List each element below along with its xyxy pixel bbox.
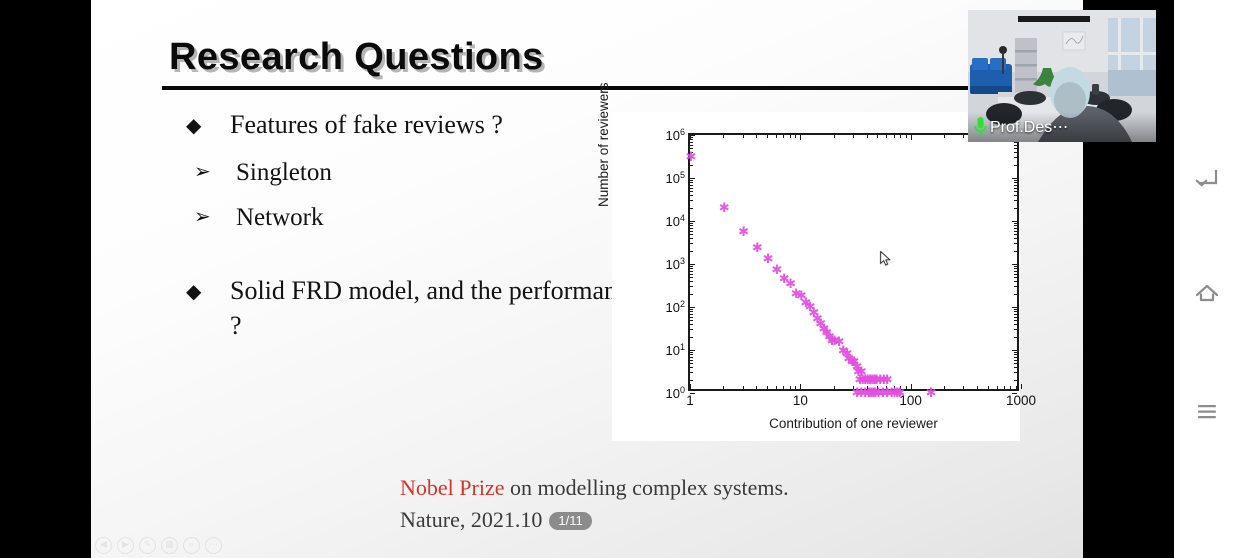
chart-y-tick [690, 350, 695, 351]
chart-y-minor-tick [1014, 329, 1017, 330]
chart-y-minor-tick [690, 360, 693, 361]
chart-y-tick-label: 103 [666, 256, 685, 272]
chart-data-point: ✱ [882, 376, 891, 385]
chart-y-minor-tick [1014, 354, 1017, 355]
chart-y-tick [1012, 350, 1017, 351]
chart-x-minor-tick [944, 135, 945, 138]
chart-y-minor-tick [1014, 274, 1017, 275]
chart-y-minor-tick [1014, 317, 1017, 318]
chart-x-minor-tick [900, 135, 901, 138]
chart-y-minor-tick [1014, 309, 1017, 310]
chart-y-minor-tick [1014, 225, 1017, 226]
mouse-cursor-icon [880, 251, 891, 266]
chart-y-minor-tick [690, 200, 693, 201]
chart-x-tick [690, 384, 691, 389]
chart-y-minor-tick [1014, 165, 1017, 166]
chart-x-minor-tick [853, 135, 854, 138]
chart-x-minor-tick [767, 386, 768, 389]
chart-x-minor-tick [963, 386, 964, 389]
chart-y-axis-label: Number of reviewers [596, 82, 611, 207]
chart-plot-area: Contribution of one reviewer 10010110210… [688, 133, 1019, 391]
chart-x-minor-tick [906, 386, 907, 389]
arrow-bullet-icon: ➢ [192, 156, 236, 181]
chart-data-point: ✱ [763, 255, 772, 264]
list-item: ◆ Features of fake reviews ? [186, 108, 646, 143]
list-item-label: Network [236, 201, 323, 234]
list-item: ➢ Singleton [186, 156, 646, 189]
chart-y-minor-tick [1014, 157, 1017, 158]
chart-x-minor-tick [783, 386, 784, 389]
chart-x-minor-tick [776, 386, 777, 389]
bullet-list: ◆ Features of fake reviews ? ➢ Singleton… [186, 108, 646, 356]
chart-y-minor-tick [1014, 182, 1017, 183]
caption-highlight: Nobel Prize [400, 475, 504, 500]
chart-y-minor-tick [690, 367, 693, 368]
chart-y-minor-tick [1014, 200, 1017, 201]
chart-x-minor-tick [997, 386, 998, 389]
chart-x-tick [911, 135, 912, 140]
chart-y-minor-tick [690, 234, 693, 235]
recents-button[interactable] [1192, 395, 1222, 425]
chart-y-minor-tick [1014, 231, 1017, 232]
chart-y-minor-tick [690, 294, 693, 295]
chart-y-tick [1012, 307, 1017, 308]
chart-x-tick-label: 10 [793, 393, 808, 408]
chart-y-minor-tick [690, 191, 693, 192]
chart-y-tick [690, 264, 695, 265]
title-divider [162, 86, 1083, 90]
chart-y-tick [1012, 264, 1017, 265]
chart-x-minor-tick [783, 135, 784, 138]
chart-x-tick [911, 384, 912, 389]
chart-x-minor-tick [790, 135, 791, 138]
back-arrow-icon [1193, 164, 1221, 192]
chart-y-minor-tick [1014, 360, 1017, 361]
chart-y-minor-tick [690, 208, 693, 209]
chart-y-minor-tick [690, 354, 693, 355]
chart-y-minor-tick [690, 243, 693, 244]
chart-y-tick-label: 102 [666, 299, 685, 315]
list-item-label: Solid FRD model, and the performance ? [230, 274, 646, 343]
chart-data-point: ✱ [752, 244, 761, 253]
spacer [186, 246, 646, 274]
home-icon [1193, 280, 1221, 308]
chart-x-minor-tick [906, 135, 907, 138]
chart-data-point: ✱ [738, 228, 747, 237]
caption-line-two: Nature, 2021.10 [400, 507, 542, 532]
chart-figure: Number of reviewers Contribution of one … [612, 112, 1020, 441]
chart-y-minor-tick [690, 188, 693, 189]
chart-x-axis-label: Contribution of one reviewer [690, 416, 1017, 431]
chart-x-minor-tick [743, 135, 744, 138]
chart-x-tick [1021, 384, 1022, 389]
chart-y-minor-tick [690, 268, 693, 269]
chart-y-tick [690, 221, 695, 222]
chart-y-tick-label: 100 [666, 385, 685, 401]
chart-y-minor-tick [690, 286, 693, 287]
chart-y-minor-tick [1014, 372, 1017, 373]
list-item: ➢ Network [186, 201, 646, 234]
chart-x-tick [800, 135, 801, 140]
chart-y-minor-tick [690, 231, 693, 232]
chart-y-minor-tick [1014, 152, 1017, 153]
chart-y-minor-tick [690, 372, 693, 373]
chart-x-minor-tick [834, 135, 835, 138]
caption-rest: on modelling complex systems. [504, 475, 788, 500]
chart-y-minor-tick [1014, 363, 1017, 364]
chart-y-minor-tick [690, 165, 693, 166]
chart-x-minor-tick [894, 135, 895, 138]
chart-y-minor-tick [690, 251, 693, 252]
chart-y-minor-tick [690, 148, 693, 149]
chart-y-tick-label: 105 [666, 170, 685, 186]
chart-y-tick [1012, 221, 1017, 222]
chart-y-minor-tick [1014, 223, 1017, 224]
diamond-bullet-icon: ◆ [186, 274, 230, 301]
chart-y-minor-tick [690, 324, 693, 325]
play-control[interactable]: ◀ [95, 537, 112, 554]
android-navigation-bar [1174, 0, 1239, 558]
chart-y-minor-tick [1014, 286, 1017, 287]
screen: Research Questions ◆ Features of fake re… [0, 0, 1239, 558]
chart-y-minor-tick [690, 271, 693, 272]
chart-x-minor-tick [944, 386, 945, 389]
chart-y-minor-tick [1014, 337, 1017, 338]
chart-y-tick-label: 101 [666, 342, 685, 358]
chart-x-minor-tick [767, 135, 768, 138]
chart-y-tick [690, 307, 695, 308]
chart-y-minor-tick [690, 238, 693, 239]
chart-x-minor-tick [834, 386, 835, 389]
chart-y-minor-tick [1014, 238, 1017, 239]
chart-y-minor-tick [1014, 320, 1017, 321]
chart-y-minor-tick [1014, 148, 1017, 149]
chart-x-minor-tick [867, 135, 868, 138]
chart-y-minor-tick [1014, 268, 1017, 269]
chart-x-minor-tick [1016, 386, 1017, 389]
chart-y-minor-tick [1014, 208, 1017, 209]
chart-y-tick [1012, 178, 1017, 179]
chart-y-minor-tick [690, 277, 693, 278]
chart-y-minor-tick [1014, 324, 1017, 325]
chart-y-minor-tick [690, 180, 693, 181]
participant-label: Prof.Des⋯ [968, 112, 1156, 142]
chart-x-minor-tick [776, 135, 777, 138]
chart-y-minor-tick [690, 225, 693, 226]
chart-x-minor-tick [743, 386, 744, 389]
chart-x-minor-tick [795, 386, 796, 389]
menu-lines-icon [1193, 396, 1221, 424]
slideshow-controls[interactable]: ◀▶✎▦⌕⋯ [95, 537, 222, 554]
chart-y-minor-tick [690, 337, 693, 338]
chart-y-tick-label: 104 [666, 213, 685, 229]
chart-y-minor-tick [690, 145, 693, 146]
chart-y-minor-tick [1014, 243, 1017, 244]
chart-data-point: ✱ [894, 389, 903, 398]
chart-x-minor-tick [988, 386, 989, 389]
slide-caption: Nobel Prize on modelling complex systems… [400, 472, 1020, 535]
page-title: Research Questions [169, 36, 544, 79]
grid-control[interactable]: ▦ [161, 537, 178, 554]
chart-x-minor-tick [795, 135, 796, 138]
chart-x-minor-tick [756, 135, 757, 138]
chart-y-minor-tick [690, 182, 693, 183]
chart-y-minor-tick [1014, 352, 1017, 353]
chart-x-minor-tick [1010, 386, 1011, 389]
chart-y-minor-tick [690, 363, 693, 364]
chart-x-minor-tick [963, 135, 964, 138]
chart-y-minor-tick [690, 228, 693, 229]
chart-y-minor-tick [1014, 266, 1017, 267]
chart-y-minor-tick [1014, 311, 1017, 312]
chart-y-minor-tick [690, 329, 693, 330]
list-item-label: Singleton [236, 156, 332, 189]
chart-y-minor-tick [690, 317, 693, 318]
video-participant-tile[interactable]: Prof.Des⋯ [968, 10, 1156, 142]
diamond-bullet-icon: ◆ [186, 108, 230, 135]
chart-x-minor-tick [877, 135, 878, 138]
presentation-slide[interactable]: Research Questions ◆ Features of fake re… [91, 0, 1083, 558]
back-button[interactable] [1192, 163, 1222, 193]
chart-y-minor-tick [690, 274, 693, 275]
chart-y-minor-tick [1014, 367, 1017, 368]
home-button[interactable] [1192, 279, 1222, 309]
chart-data-point: ✱ [686, 153, 695, 162]
chart-x-minor-tick [790, 386, 791, 389]
chart-y-minor-tick [1014, 357, 1017, 358]
chart-y-minor-tick [690, 380, 693, 381]
chart-y-minor-tick [1014, 180, 1017, 181]
chart-y-minor-tick [690, 320, 693, 321]
chart-y-minor-tick [690, 314, 693, 315]
chart-x-minor-tick [977, 386, 978, 389]
chart-x-minor-tick [886, 135, 887, 138]
chart-x-tick [800, 384, 801, 389]
chart-y-tick-label: 106 [666, 127, 685, 143]
chart-x-minor-tick [723, 135, 724, 138]
chart-y-minor-tick [1014, 195, 1017, 196]
chart-data-point: ✱ [926, 389, 935, 398]
participant-name: Prof.Des⋯ [990, 117, 1068, 137]
microphone-icon [973, 116, 988, 138]
chart-y-minor-tick [1014, 294, 1017, 295]
chart-y-minor-tick [690, 142, 693, 143]
chart-x-minor-tick [756, 386, 757, 389]
chart-y-minor-tick [690, 223, 693, 224]
zoom-control[interactable]: ⌕ [183, 537, 200, 554]
chart-x-tick-label: 1 [686, 393, 694, 408]
chart-y-minor-tick [1014, 191, 1017, 192]
chart-y-minor-tick [1014, 271, 1017, 272]
page-indicator-badge: 1/11 [549, 512, 591, 530]
arrow-bullet-icon: ➢ [192, 201, 236, 226]
chart-y-minor-tick [690, 352, 693, 353]
chart-y-minor-tick [690, 357, 693, 358]
chart-y-minor-tick [690, 309, 693, 310]
chart-y-minor-tick [1014, 251, 1017, 252]
chart-x-minor-tick [1004, 386, 1005, 389]
chart-y-minor-tick [1014, 277, 1017, 278]
next-control[interactable]: ▶ [117, 537, 134, 554]
chart-y-minor-tick [1014, 228, 1017, 229]
chart-x-tick-label: 1000 [1006, 393, 1036, 408]
list-item: ◆ Solid FRD model, and the performance ? [186, 274, 646, 343]
chart-y-minor-tick [1014, 281, 1017, 282]
chart-y-minor-tick [690, 185, 693, 186]
chart-y-minor-tick [1014, 145, 1017, 146]
list-item-label: Features of fake reviews ? [230, 108, 503, 143]
chart-y-minor-tick [1014, 188, 1017, 189]
more-control[interactable]: ⋯ [205, 537, 222, 554]
chart-y-minor-tick [690, 311, 693, 312]
chart-data-point: ✱ [719, 204, 728, 213]
chart-x-tick [690, 135, 691, 140]
chart-y-minor-tick [690, 281, 693, 282]
chart-y-minor-tick [1014, 185, 1017, 186]
chart-y-minor-tick [1014, 234, 1017, 235]
chart-y-minor-tick [1014, 314, 1017, 315]
pen-control[interactable]: ✎ [139, 537, 156, 554]
chart-x-minor-tick [723, 386, 724, 389]
chart-y-tick [690, 178, 695, 179]
chart-y-minor-tick [1014, 380, 1017, 381]
chart-y-minor-tick [690, 266, 693, 267]
chart-y-minor-tick [690, 195, 693, 196]
